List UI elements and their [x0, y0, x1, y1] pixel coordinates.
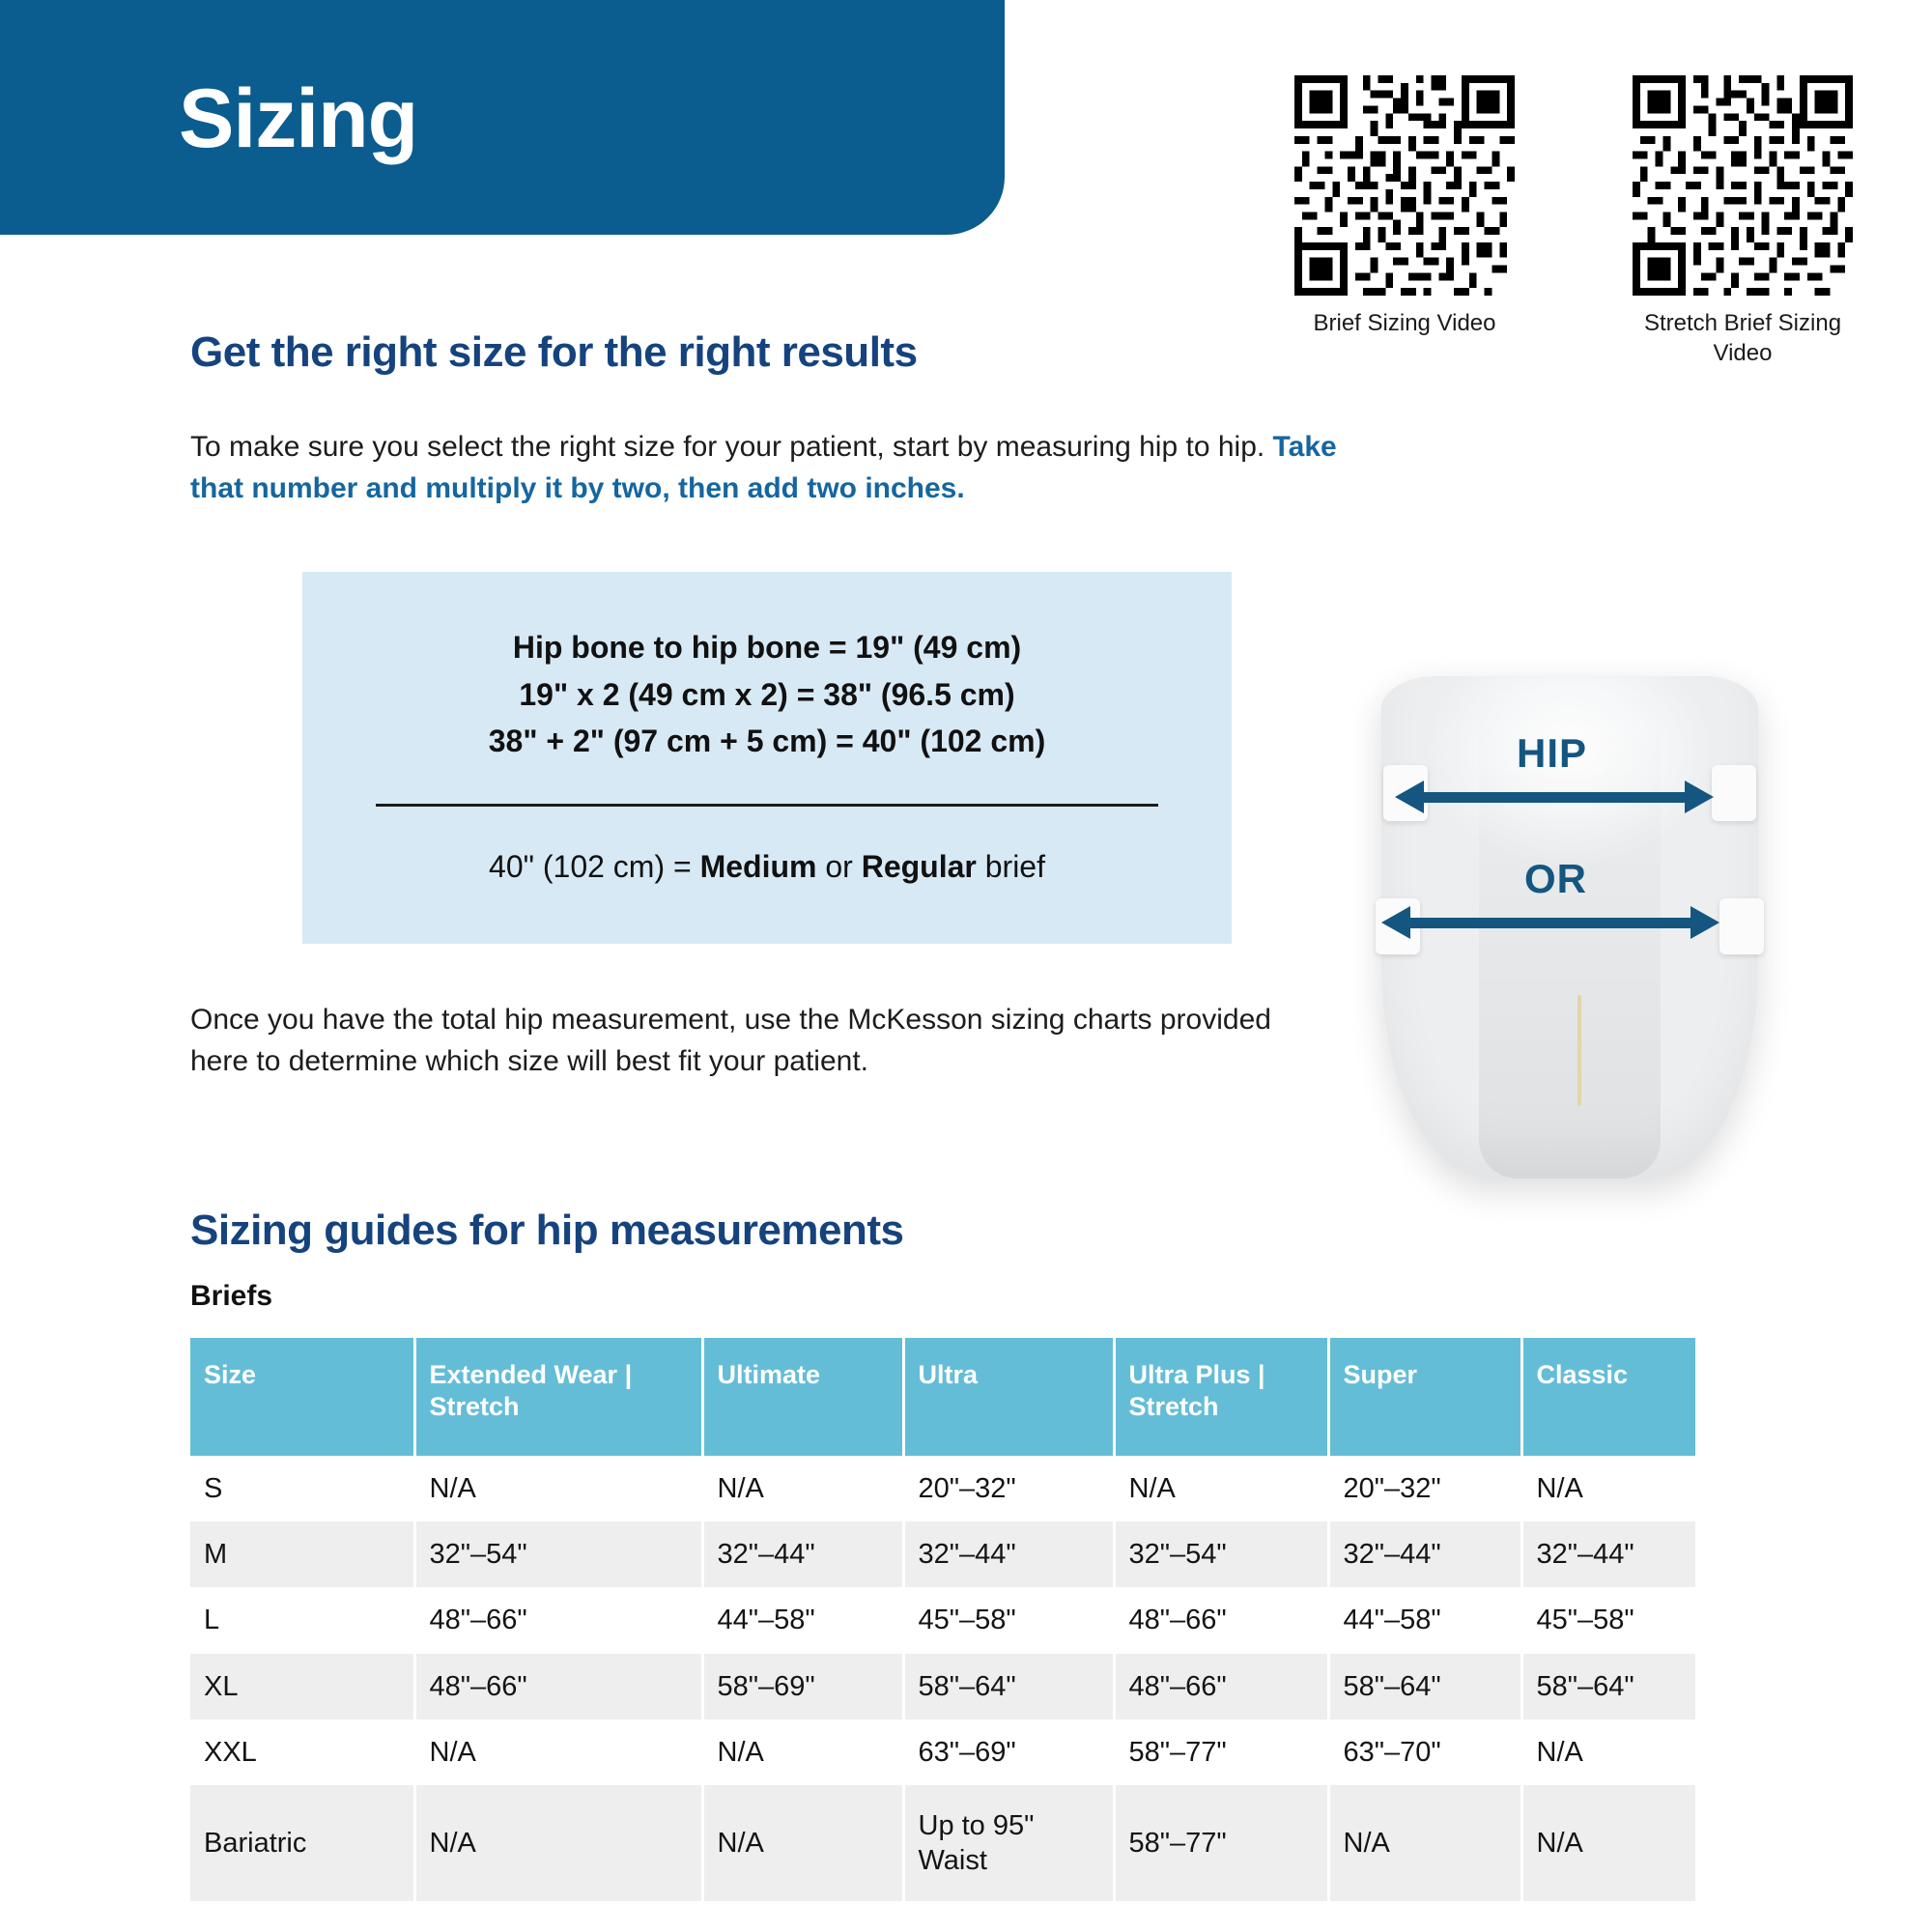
column-header-extended-wear: Extended Wear | Stretch: [414, 1338, 702, 1456]
calculation-result-suffix: brief: [977, 849, 1045, 884]
table-title-briefs: Briefs: [190, 1280, 272, 1313]
hip-label: HIP: [1517, 730, 1587, 777]
brief-seam-line: [1577, 995, 1581, 1106]
calculation-result: 40" (102 cm) = Medium or Regular brief: [302, 849, 1232, 885]
cell-value: N/A: [702, 1719, 903, 1785]
cell-value: 20"–32": [1328, 1456, 1521, 1521]
cell-value: 58"–64": [1328, 1654, 1521, 1719]
cell-value: 48"–66": [1114, 1587, 1328, 1653]
cell-value: 44"–58": [702, 1587, 903, 1653]
cell-size: L: [190, 1587, 414, 1653]
table-row: S N/A N/A 20"–32" N/A 20"–32" N/A: [190, 1456, 1695, 1521]
table-header: Size Extended Wear | Stretch Ultimate Ul…: [190, 1338, 1695, 1456]
qr-block-stretch-brief-sizing-video[interactable]: Stretch Brief Sizing Video: [1631, 75, 1855, 368]
sizing-page: Sizing: [0, 0, 1932, 1932]
qr-block-brief-sizing-video[interactable]: Brief Sizing Video: [1293, 75, 1517, 339]
heading-sizing-guides: Sizing guides for hip measurements: [190, 1207, 903, 1255]
heading-get-the-right-size: Get the right size for the right results: [190, 328, 918, 377]
qr-code-icon[interactable]: [1633, 75, 1853, 296]
table-row: L 48"–66" 44"–58" 45"–58" 48"–66" 44"–58…: [190, 1587, 1695, 1653]
briefs-sizing-table: Size Extended Wear | Stretch Ultimate Ul…: [190, 1338, 1695, 1901]
cell-size: XXL: [190, 1719, 414, 1785]
or-label: OR: [1524, 856, 1587, 902]
divider: [376, 804, 1158, 807]
cell-value: N/A: [1521, 1719, 1695, 1785]
calculation-line: Hip bone to hip bone = 19" (49 cm): [302, 624, 1232, 671]
cell-value: 44"–58": [1328, 1587, 1521, 1653]
cell-value: 45"–58": [1521, 1587, 1695, 1653]
table-row: Bariatric N/A N/A Up to 95" Waist 58"–77…: [190, 1785, 1695, 1901]
calculation-lines: Hip bone to hip bone = 19" (49 cm) 19" x…: [302, 572, 1232, 765]
cell-size: Bariatric: [190, 1785, 414, 1901]
brief-tab-icon: [1712, 765, 1756, 821]
table-row: M 32"–54" 32"–44" 32"–44" 32"–54" 32"–44…: [190, 1521, 1695, 1587]
cell-value: 58"–77": [1114, 1785, 1328, 1901]
page-title: Sizing: [179, 77, 417, 160]
column-header-ultra: Ultra: [903, 1338, 1114, 1456]
column-header-classic: Classic: [1521, 1338, 1695, 1456]
cell-value: 58"–64": [903, 1654, 1114, 1719]
calculation-result-prefix: 40" (102 cm) =: [489, 849, 700, 884]
arrow-bar: [1422, 792, 1687, 803]
calculation-line: 19" x 2 (49 cm x 2) = 38" (96.5 cm): [302, 671, 1232, 719]
cell-value: 58"–77": [1114, 1719, 1328, 1785]
cell-value: N/A: [1521, 1785, 1695, 1901]
qr-code-icon[interactable]: [1294, 75, 1515, 296]
arrow-bar: [1408, 918, 1692, 928]
cell-value: N/A: [702, 1785, 903, 1901]
qr-caption: Stretch Brief Sizing Video: [1631, 309, 1855, 368]
calculation-result-conjunction: or: [816, 849, 861, 884]
cell-value: N/A: [1328, 1785, 1521, 1901]
hero-banner: Sizing: [0, 0, 1005, 235]
intro-paragraph: To make sure you select the right size f…: [190, 427, 1388, 509]
cell-value: 48"–66": [414, 1654, 702, 1719]
arrow-head-left-icon: [1381, 906, 1410, 939]
intro-paragraph-plain: To make sure you select the right size f…: [190, 431, 1273, 463]
brief-tab-icon: [1719, 898, 1764, 954]
cell-value: 32"–44": [1521, 1521, 1695, 1587]
column-header-super: Super: [1328, 1338, 1521, 1456]
calculation-line: 38" + 2" (97 cm + 5 cm) = 40" (102 cm): [302, 718, 1232, 765]
cell-value: 32"–54": [1114, 1521, 1328, 1587]
cell-value: N/A: [414, 1456, 702, 1521]
column-header-ultimate: Ultimate: [702, 1338, 903, 1456]
cell-value: N/A: [702, 1456, 903, 1521]
cell-value: 48"–66": [414, 1587, 702, 1653]
cell-value: N/A: [414, 1785, 702, 1901]
table-header-row: Size Extended Wear | Stretch Ultimate Ul…: [190, 1338, 1695, 1456]
hip-measurement-arrow-icon: [1395, 781, 1714, 813]
arrow-head-right-icon: [1690, 906, 1719, 939]
or-measurement-arrow-icon: [1381, 906, 1719, 939]
cell-value: 63"–69": [903, 1719, 1114, 1785]
cell-size: M: [190, 1521, 414, 1587]
cell-value: 32"–44": [1328, 1521, 1521, 1587]
cell-value: 32"–44": [903, 1521, 1114, 1587]
cell-value: N/A: [414, 1719, 702, 1785]
cell-size: S: [190, 1456, 414, 1521]
cell-value: 32"–54": [414, 1521, 702, 1587]
product-image-brief: HIP OR: [1381, 676, 1758, 1179]
qr-caption: Brief Sizing Video: [1293, 309, 1517, 339]
arrow-head-left-icon: [1395, 781, 1424, 813]
arrow-head-right-icon: [1685, 781, 1714, 813]
cell-size: XL: [190, 1654, 414, 1719]
cell-value: N/A: [1521, 1456, 1695, 1521]
table-row: XXL N/A N/A 63"–69" 58"–77" 63"–70" N/A: [190, 1719, 1695, 1785]
cell-value: 58"–69": [702, 1654, 903, 1719]
cell-value: Up to 95" Waist: [903, 1785, 1114, 1901]
column-header-ultra-plus: Ultra Plus | Stretch: [1114, 1338, 1328, 1456]
column-header-size: Size: [190, 1338, 414, 1456]
calculation-box: Hip bone to hip bone = 19" (49 cm) 19" x…: [302, 572, 1232, 944]
cell-value: N/A: [1114, 1456, 1328, 1521]
calculation-result-size-alt: Regular: [862, 849, 977, 884]
post-measurement-paragraph: Once you have the total hip measurement,…: [190, 1000, 1311, 1082]
cell-value: 63"–70": [1328, 1719, 1521, 1785]
table-row: XL 48"–66" 58"–69" 58"–64" 48"–66" 58"–6…: [190, 1654, 1695, 1719]
cell-value: 58"–64": [1521, 1654, 1695, 1719]
table-body: S N/A N/A 20"–32" N/A 20"–32" N/A M 32"–…: [190, 1456, 1695, 1901]
cell-value: 48"–66": [1114, 1654, 1328, 1719]
calculation-result-size: Medium: [700, 849, 817, 884]
cell-value: 32"–44": [702, 1521, 903, 1587]
cell-value: 20"–32": [903, 1456, 1114, 1521]
cell-value: 45"–58": [903, 1587, 1114, 1653]
